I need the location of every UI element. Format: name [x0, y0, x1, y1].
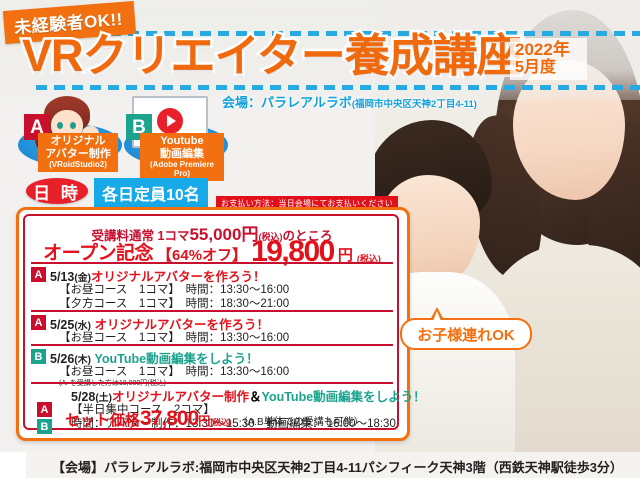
campaign-label: オープン記念	[43, 238, 153, 265]
session-2-line-1: 【お昼コース 1コマ】 時間：13:30～16:00	[59, 329, 289, 345]
poster: 未経験者OK!! VRクリエイター養成講座 2022年 5月度 会場：パラレアル…	[0, 0, 640, 478]
sale-price-line: オープン記念 【64%オフ】 19,800 円 (税込)	[31, 238, 393, 265]
footer-bar: 【会場】パラレアルラボ:福岡市中央区天神2丁目4-11パシフィーク天神3階（西鉄…	[0, 452, 640, 478]
page-title: VRクリエイター養成講座	[22, 33, 521, 78]
schedule-panel: 受講料通常 1コマ55,000円(税込)のところ オープン記念 【64%オフ】 …	[16, 207, 410, 441]
session-1-badge: A	[31, 267, 46, 282]
schedule-label: 日 時	[26, 178, 88, 204]
footer-left-edge	[0, 452, 26, 478]
course-a-line2: アバター制作	[42, 148, 114, 161]
set-price-memo: （A.B単体での受講も可能）	[238, 417, 364, 428]
course-label-b: Youtube 動画編集 (Adobe Premiere Pro)	[140, 133, 224, 181]
course-a-line1: オリジナル	[42, 135, 114, 148]
divider-3	[31, 344, 393, 346]
set-title-b: YouTube動画編集をしよう！	[262, 390, 426, 404]
session-3-badge: B	[31, 349, 46, 364]
date-month: 5月度	[515, 59, 583, 77]
set-badge-b: B	[37, 419, 52, 434]
divider-2	[31, 310, 393, 312]
set-price-tax: (税込)	[210, 418, 231, 427]
session-3-line-1: 【お昼コース 1コマ】 時間：13:30～16:00	[59, 363, 289, 379]
set-amp: ＆	[249, 390, 262, 404]
footer-venue-text: 【会場】パラレアルラボ:福岡市中央区天神2丁目4-11パシフィーク天神3階（西鉄…	[52, 457, 623, 476]
course-b-line1: Youtube	[144, 135, 220, 148]
set-price-label: セット価格	[65, 412, 140, 429]
course-b-line2: 動画編集	[144, 148, 220, 161]
divider-1	[31, 262, 393, 264]
dashed-rule-bottom	[36, 85, 640, 90]
set-price-amount: 37,800	[140, 407, 198, 430]
set-badge-a: A	[37, 402, 52, 417]
course-label-a: オリジナル アバター制作 (VRoidStudio2)	[38, 133, 118, 172]
session-2-badge: A	[31, 315, 46, 330]
schedule-panel-inner: 受講料通常 1コマ55,000円(税込)のところ オープン記念 【64%オフ】 …	[23, 214, 399, 430]
venue-sub: (福岡市中央区天神2丁目4-11)	[352, 99, 477, 110]
kids-welcome-bubble: お子様連れOK	[400, 318, 532, 350]
divider-4	[31, 382, 393, 384]
set-price-yen: 円	[198, 414, 210, 428]
session-1-line-2: 【夕方コース 1コマ】 時間：18:30～21:00	[59, 295, 289, 311]
set-price-line: セット価格37,800円(税込)（A.B単体での受講も可能）	[65, 407, 364, 431]
play-icon	[157, 108, 183, 134]
course-a-tool: (VRoidStudio2)	[42, 160, 114, 169]
venue-main: 会場：パラレアルラボ	[222, 95, 352, 110]
session-row-3: B 5/26(木) YouTube動画編集をしよう！ 【お昼コース 1コマ】 時…	[31, 348, 395, 386]
session-row-1: A 5/13(金)オリジナルアバターを作ろう！ 【お昼コース 1コマ】 時間：1…	[31, 266, 395, 310]
date-badge: 2022年 5月度	[510, 38, 587, 80]
capacity-badge: 各日定員10名	[94, 178, 208, 209]
date-year: 2022年	[515, 40, 583, 59]
venue-line: 会場：パラレアルラボ(福岡市中央区天神2丁目4-11)	[222, 92, 477, 111]
course-b-tool: (Adobe Premiere Pro)	[144, 160, 220, 178]
session-row-2: A 5/25(水) オリジナルアバターを作ろう！ 【お昼コース 1コマ】 時間：…	[31, 314, 395, 344]
